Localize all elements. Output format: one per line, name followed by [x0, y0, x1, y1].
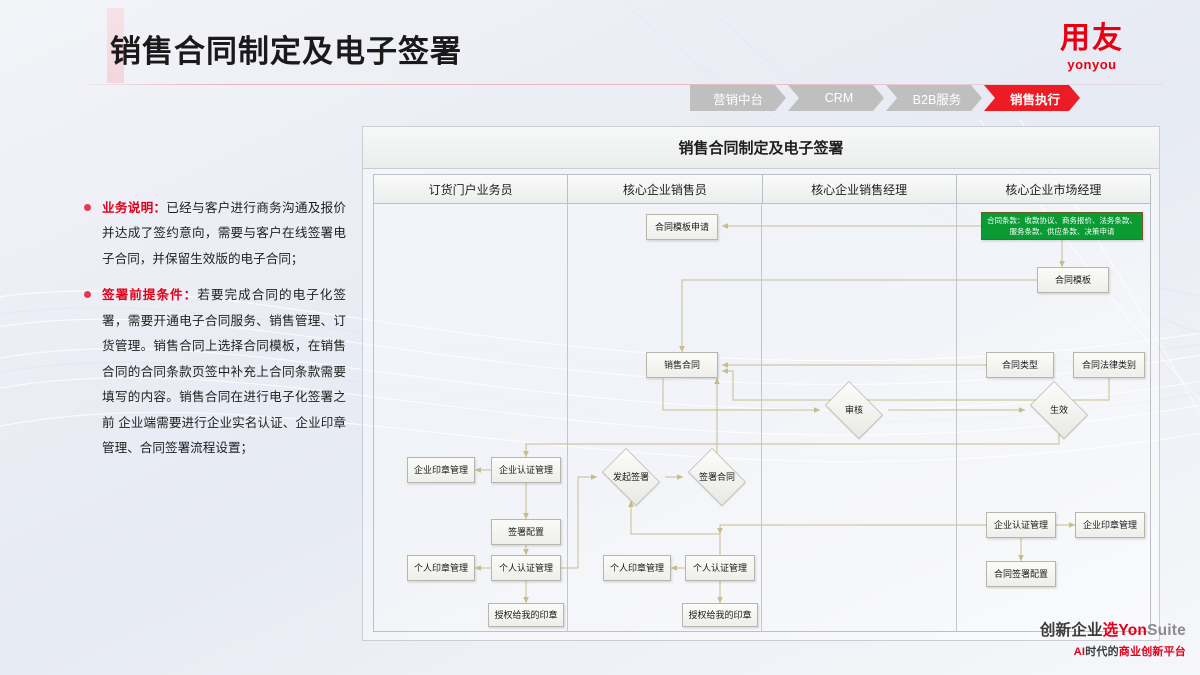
node-authorized-seal-lane1[interactable]: 授权给我的印章: [488, 603, 564, 627]
footer-text-platform: 商业创新平台: [1119, 646, 1186, 658]
footer-brand-line1: 创新企业选YonSuite: [1040, 618, 1186, 640]
flowchart-panel: 销售合同制定及电子签署 订货门户业务员核心企业销售员核心企业销售经理核心企业市场…: [362, 126, 1160, 641]
logo-chinese-text: 用友: [1022, 24, 1162, 54]
node-enterprise-seal-mgmt-lane4[interactable]: 企业印章管理: [1075, 512, 1145, 538]
bullet-text-1: 签署前提条件：若要完成合同的电子化签署，需要开通电子合同服务、销售管理、订货管理…: [102, 283, 346, 461]
yonyou-logo: 用友 yonyou: [1022, 24, 1162, 72]
bullet-body-1: 若要完成合同的电子化签署，需要开通电子合同服务、销售管理、订货管理。销售合同上选…: [102, 288, 346, 455]
page-header: 销售合同制定及电子签署 用友 yonyou 营销中台CRMB2B服务销售执行: [0, 0, 1200, 118]
footer-text-suite: Suite: [1147, 622, 1186, 639]
lane-divider-1: [567, 204, 568, 632]
swimlane-header-0: 订货门户业务员: [374, 175, 568, 203]
bullet-item-0: 业务说明：已经与客户进行商务沟通及报价并达成了签约意向，需要与客户在线签署电子合…: [84, 196, 346, 272]
page-title: 销售合同制定及电子签署: [110, 26, 462, 71]
node-contract-type[interactable]: 合同类型: [986, 352, 1054, 378]
swimlane-header-row: 订货门户业务员核心企业销售员核心企业销售经理核心企业市场经理: [373, 174, 1151, 204]
node-sign-contract[interactable]: 签署合同: [683, 453, 751, 501]
footer-text-innovation: 创新企业: [1040, 622, 1103, 639]
node-personal-auth-mgmt-lane2[interactable]: 个人认证管理: [685, 555, 755, 581]
lane-divider-2: [761, 204, 762, 632]
bullet-lead-0: 业务说明：: [102, 201, 166, 215]
breadcrumb-item-0[interactable]: 营销中台: [690, 85, 786, 111]
breadcrumb-item-3[interactable]: 销售执行: [984, 85, 1080, 111]
lane-divider-3: [956, 204, 957, 632]
node-contract-template[interactable]: 合同模板: [1037, 267, 1109, 293]
node-enterprise-auth-mgmt-lane4[interactable]: 企业认证管理: [986, 512, 1056, 538]
node-initiate-signing[interactable]: 发起签署: [597, 453, 665, 501]
logo-english-text: yonyou: [1022, 57, 1162, 72]
footer-text-choose: 选: [1103, 622, 1119, 639]
bullet-text-0: 业务说明：已经与客户进行商务沟通及报价并达成了签约意向，需要与客户在线签署电子合…: [102, 196, 346, 272]
bullet-dot-icon: [84, 291, 91, 298]
footer-brand: 创新企业选YonSuite AI时代的商业创新平台: [1040, 618, 1186, 659]
footer-text-ai: AI: [1074, 646, 1085, 658]
node-enterprise-seal-mgmt-lane1[interactable]: 企业印章管理: [407, 457, 475, 483]
node-personal-seal-mgmt-lane2[interactable]: 个人印章管理: [603, 555, 671, 581]
node-contract-signing-config[interactable]: 合同签署配置: [986, 561, 1056, 587]
node-review[interactable]: 审核: [820, 386, 888, 434]
bullet-item-1: 签署前提条件：若要完成合同的电子化签署，需要开通电子合同服务、销售管理、订货管理…: [84, 283, 346, 461]
node-personal-auth-mgmt-lane1[interactable]: 个人认证管理: [491, 555, 561, 581]
node-authorized-seal-lane2[interactable]: 授权给我的印章: [682, 603, 758, 627]
description-panel: 业务说明：已经与客户进行商务沟通及报价并达成了签约意向，需要与客户在线签署电子合…: [84, 196, 346, 472]
node-sign-contract-label: 签署合同: [699, 471, 735, 483]
breadcrumb-item-2[interactable]: B2B服务: [886, 85, 982, 111]
bullet-lead-1: 签署前提条件：: [102, 288, 197, 302]
flowchart-canvas: 合同模板申请合同条款：收款协议、商务报价、法务条款、服务条款、供应条款、决策申请…: [373, 204, 1151, 632]
footer-text-era: 时代的: [1085, 646, 1119, 658]
node-enterprise-auth-mgmt-lane1[interactable]: 企业认证管理: [491, 457, 561, 483]
node-effective[interactable]: 生效: [1025, 386, 1093, 434]
node-review-label: 审核: [845, 404, 863, 416]
flowchart-title: 销售合同制定及电子签署: [363, 127, 1159, 169]
node-initiate-signing-label: 发起签署: [613, 471, 649, 483]
footer-brand-line2: AI时代的商业创新平台: [1040, 643, 1186, 659]
breadcrumb-item-1[interactable]: CRM: [788, 85, 884, 111]
node-personal-seal-mgmt-lane1[interactable]: 个人印章管理: [407, 555, 475, 581]
bullet-dot-icon: [84, 204, 91, 211]
swimlane-header-2: 核心企业销售经理: [763, 175, 957, 203]
footer-text-yon: Yon: [1118, 622, 1147, 639]
node-contract-template-apply[interactable]: 合同模板申请: [646, 214, 718, 240]
swimlane-header-3: 核心企业市场经理: [957, 175, 1150, 203]
node-contract-terms[interactable]: 合同条款：收款协议、商务报价、法务条款、服务条款、供应条款、决策申请: [981, 212, 1143, 240]
node-sales-contract[interactable]: 销售合同: [646, 352, 718, 378]
breadcrumb: 营销中台CRMB2B服务销售执行: [690, 85, 1082, 111]
node-effective-label: 生效: [1050, 404, 1068, 416]
node-contract-legal-type[interactable]: 合同法律类别: [1073, 352, 1145, 378]
swimlane-header-1: 核心企业销售员: [568, 175, 762, 203]
node-signing-config[interactable]: 签署配置: [491, 519, 561, 545]
